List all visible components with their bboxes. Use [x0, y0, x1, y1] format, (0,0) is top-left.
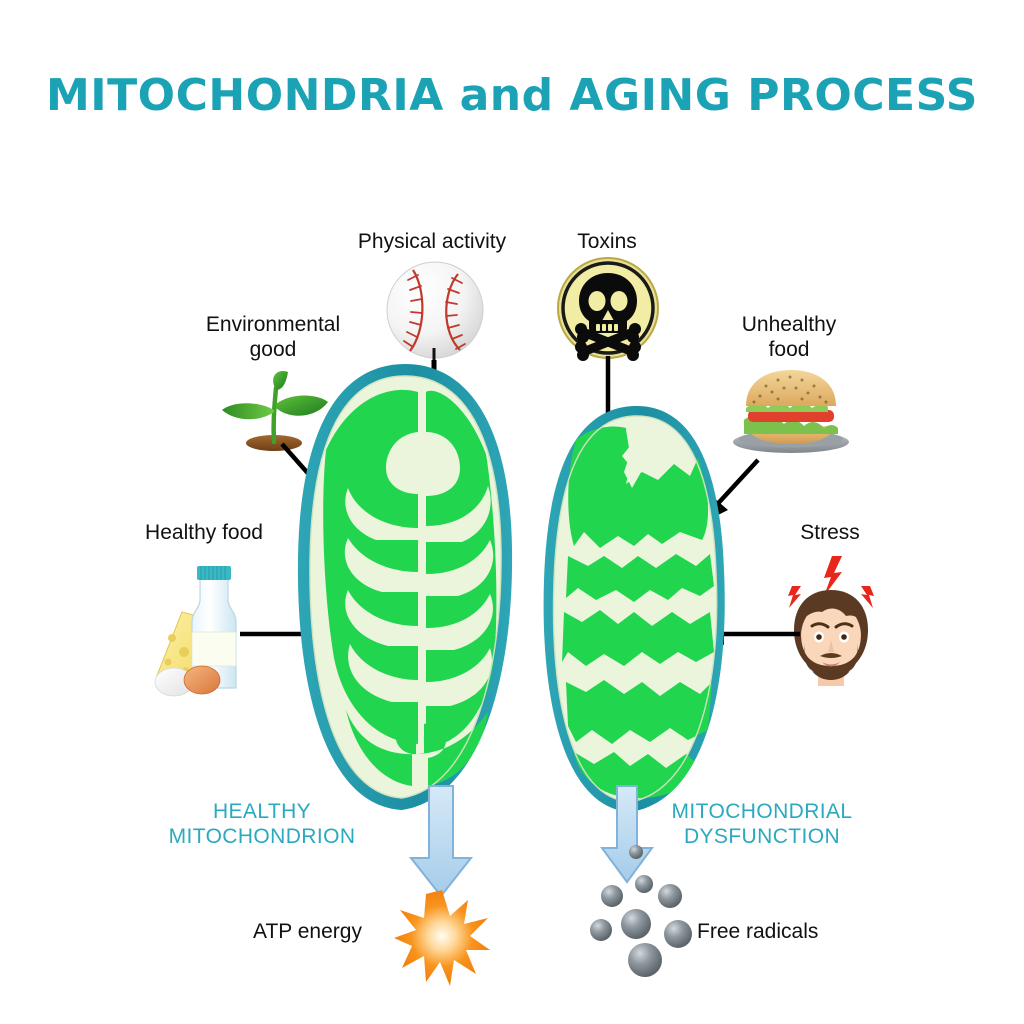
caption-healthy-mitochondrion: HEALTHY MITOCHONDRION: [169, 800, 356, 850]
gray-spheres-icon: [592, 838, 712, 978]
dysfunctional-mitochondrion: [530, 400, 740, 820]
starburst-icon: [392, 888, 492, 988]
label-atp-energy: ATP energy: [253, 920, 362, 945]
healthy-mitochondrion: [290, 358, 520, 818]
label-healthy-food: Healthy food: [145, 521, 263, 546]
label-unhealthy-food: Unhealthy food: [742, 313, 837, 363]
label-environmental-good: Environmental good: [206, 313, 340, 363]
label-toxins: Toxins: [577, 230, 637, 255]
page-title: MITOCHONDRIA and AGING PROCESS: [0, 70, 1024, 121]
label-stress: Stress: [800, 521, 860, 546]
label-free-radicals: Free radicals: [697, 920, 818, 945]
poison-skull-icon: [553, 256, 663, 366]
label-physical-activity: Physical activity: [358, 230, 506, 255]
hamburger-icon: [726, 366, 856, 456]
infographic-canvas: MITOCHONDRIA and AGING PROCESS Physical …: [0, 0, 1024, 1024]
